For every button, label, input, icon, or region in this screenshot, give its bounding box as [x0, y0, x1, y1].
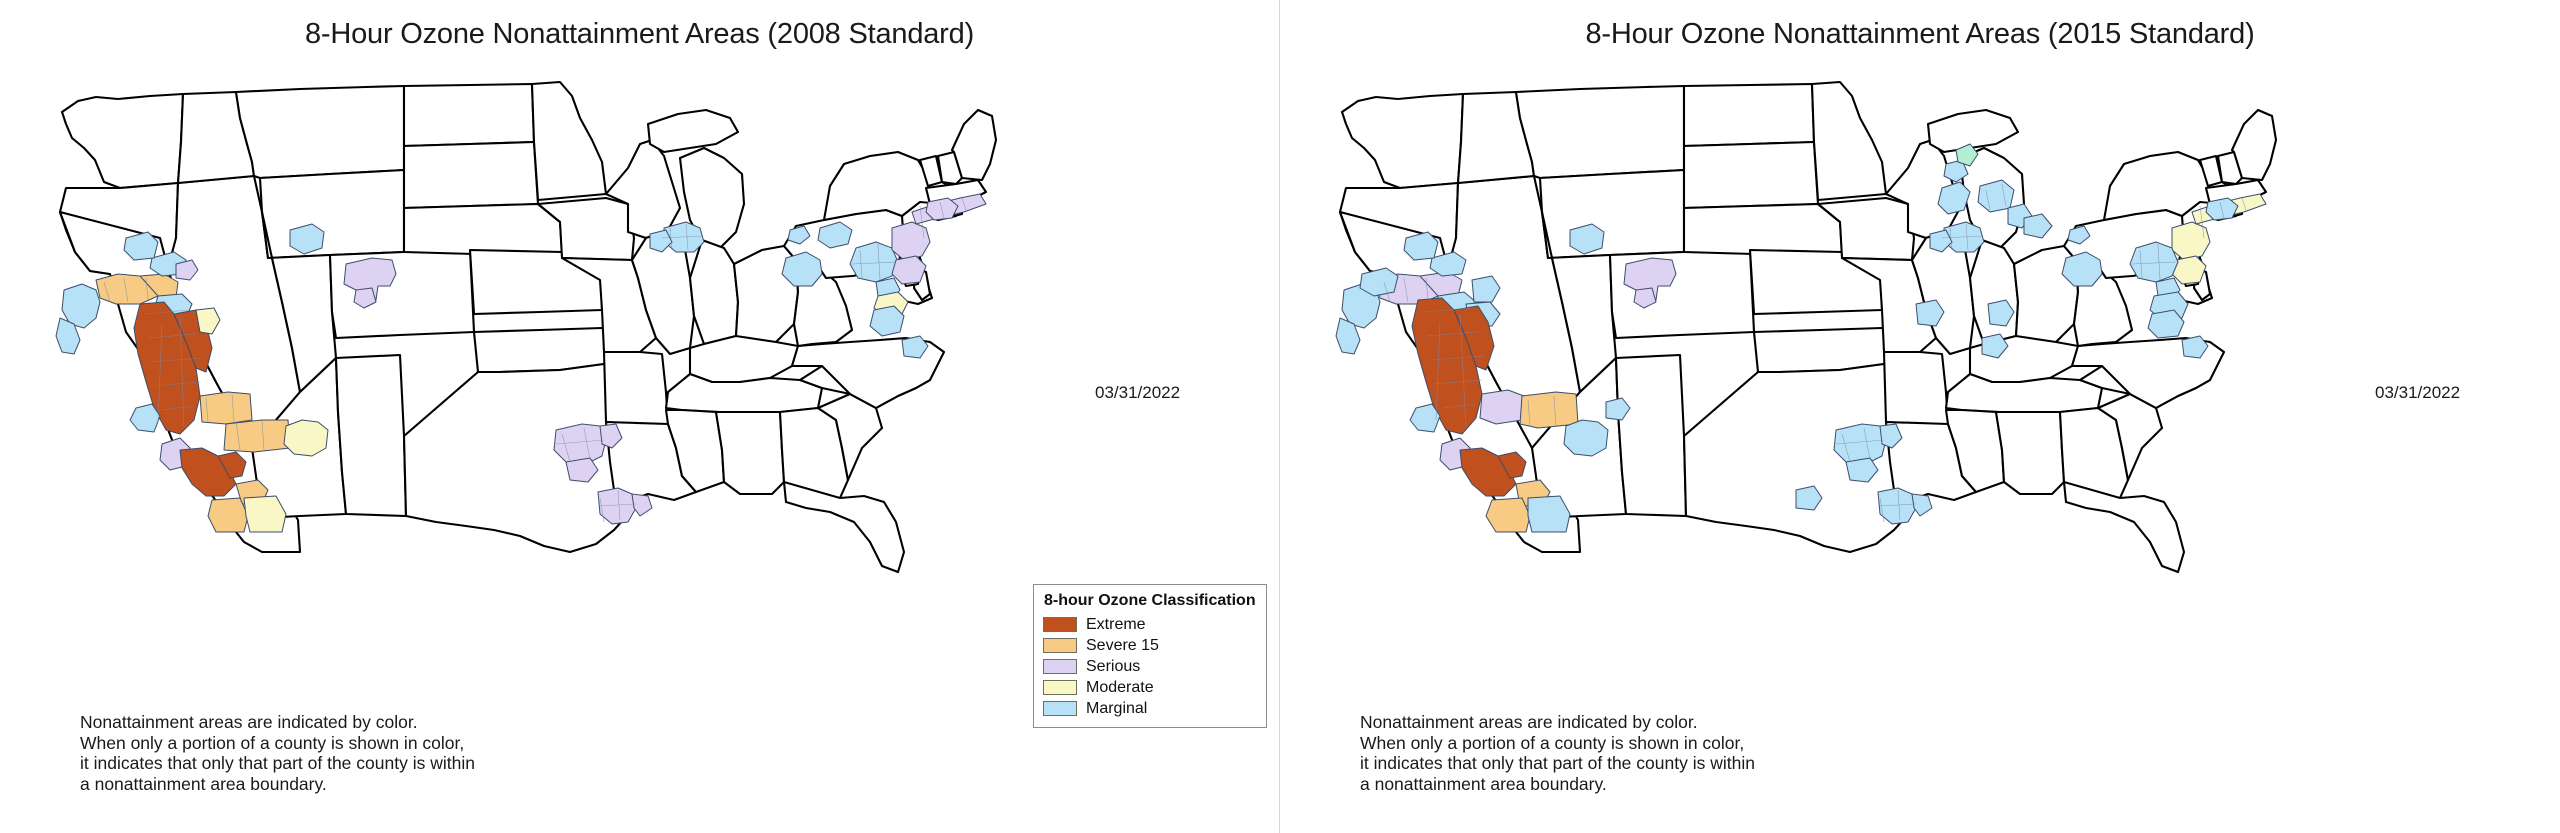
- legend-label-moderate: Moderate: [1086, 680, 1154, 696]
- date-stamp-2015: 03/31/2022: [2375, 383, 2460, 402]
- legend-item-moderate[interactable]: Moderate: [1043, 677, 1256, 698]
- legend-item-marginal[interactable]: Marginal: [1043, 698, 1256, 719]
- date-stamp-text-2015: 03/31/2022: [1280, 0, 1281, 1]
- legend-label-severe-15: Severe 15: [1086, 638, 1159, 654]
- legend-swatch-moderate: [1043, 680, 1077, 695]
- legend-swatch-severe-15: [1043, 638, 1077, 653]
- date-stamp-2008: 03/31/2022: [1095, 383, 1180, 402]
- us-map-svg-2008[interactable]: 03/31/2022: [0, 52, 1280, 612]
- legend-swatch-extreme: [1043, 617, 1077, 632]
- us-map-2015[interactable]: 03/31/2022: [1280, 52, 2560, 612]
- map-panel-2008: 8-Hour Ozone Nonattainment Areas (2008 S…: [0, 0, 1280, 833]
- footnote-2008: Nonattainment areas are indicated by col…: [80, 712, 600, 794]
- legend-item-severe-15[interactable]: Severe 15: [1043, 635, 1256, 656]
- legend-label-marginal: Marginal: [1086, 701, 1147, 717]
- us-map-2008[interactable]: 03/31/2022: [0, 52, 1280, 612]
- date-stamp-text-2008: 03/31/2022: [0, 0, 1, 1]
- figure-sheet: 8-Hour Ozone Nonattainment Areas (2008 S…: [0, 0, 2560, 833]
- legend-label-serious: Serious: [1086, 659, 1140, 675]
- legend-label-extreme: Extreme: [1086, 617, 1146, 633]
- legend-swatch-marginal: [1043, 701, 1077, 716]
- legend-title: 8-hour Ozone Classification: [1044, 592, 1256, 610]
- us-map-svg-2015[interactable]: 03/31/2022: [1280, 52, 2560, 612]
- legend-item-serious[interactable]: Serious: [1043, 656, 1256, 677]
- map-panel-2015: 8-Hour Ozone Nonattainment Areas (2015 S…: [1280, 0, 2560, 833]
- legend-item-extreme[interactable]: Extreme: [1043, 614, 1256, 635]
- page-title-2008: 8-Hour Ozone Nonattainment Areas (2008 S…: [0, 18, 1279, 51]
- legend-2008[interactable]: 8-hour Ozone Classification Extreme Seve…: [1033, 584, 1267, 728]
- footnote-2015: Nonattainment areas are indicated by col…: [1360, 712, 1880, 794]
- legend-swatch-serious: [1043, 659, 1077, 674]
- page-title-2015: 8-Hour Ozone Nonattainment Areas (2015 S…: [1280, 18, 2560, 51]
